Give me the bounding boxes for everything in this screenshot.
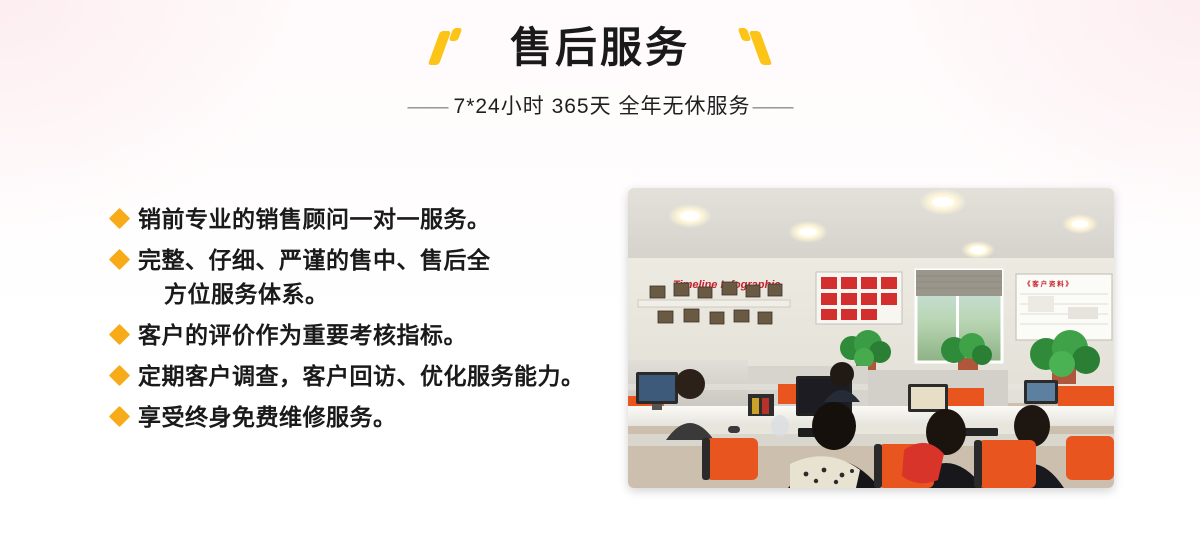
banner-content: 销前专业的销售顾问一对一服务。 完整、仔细、严谨的售中、售后全 方位服务体系。 … xyxy=(0,150,1200,556)
list-item-line: 定期客户调查，客户回访、优化服务能力。 xyxy=(138,363,585,389)
svg-text:《 客 户 资 料 》: 《 客 户 资 料 》 xyxy=(1024,279,1072,288)
list-item: 享受终身免费维修服务。 xyxy=(112,400,612,434)
service-feature-list: 销前专业的销售顾问一对一服务。 完整、仔细、严谨的售中、售后全 方位服务体系。 … xyxy=(112,202,612,441)
yellow-double-slash-icon-right xyxy=(732,27,774,69)
list-item-line: 销前专业的销售顾问一对一服务。 xyxy=(138,206,491,232)
slash-stroke-long xyxy=(428,31,451,65)
list-item-text: 完整、仔细、严谨的售中、售后全 方位服务体系。 xyxy=(138,243,491,311)
banner-header: 售后服务 —— 7*24小时 365天 全年无休服务 —— xyxy=(0,0,1200,150)
list-item-line: 客户的评价作为重要考核指标。 xyxy=(138,322,467,348)
yellow-double-slash-icon-left xyxy=(426,27,468,69)
orange-diamond-icon xyxy=(109,249,130,270)
subtitle-dash-left: —— xyxy=(408,92,448,122)
promo-banner: 售后服务 —— 7*24小时 365天 全年无休服务 —— 销前专业的销售顾问一… xyxy=(0,0,1200,556)
list-item-text: 客户的评价作为重要考核指标。 xyxy=(138,318,467,352)
list-item-text: 享受终身免费维修服务。 xyxy=(138,400,397,434)
subtitle-row: —— 7*24小时 365天 全年无休服务 —— xyxy=(0,92,1200,122)
page-title: 售后服务 xyxy=(510,22,690,74)
title-row: 售后服务 xyxy=(0,22,1200,74)
list-item-text: 销前专业的销售顾问一对一服务。 xyxy=(138,202,491,236)
orange-diamond-icon xyxy=(109,324,130,345)
subtitle-text: 7*24小时 365天 全年无休服务 xyxy=(454,92,751,122)
list-item: 定期客户调查，客户回访、优化服务能力。 xyxy=(112,359,612,393)
office-workspace-photo: Timeline Infographic xyxy=(628,188,1114,488)
list-item: 完整、仔细、严谨的售中、售后全 方位服务体系。 xyxy=(112,243,612,311)
orange-diamond-icon xyxy=(109,208,130,229)
list-item: 客户的评价作为重要考核指标。 xyxy=(112,318,612,352)
list-item-line: 完整、仔细、严谨的售中、售后全 xyxy=(138,247,491,273)
list-item-text: 定期客户调查，客户回访、优化服务能力。 xyxy=(138,359,585,393)
slash-stroke-short xyxy=(449,28,463,41)
list-item-line: 享受终身免费维修服务。 xyxy=(138,404,397,430)
slash-stroke-long xyxy=(749,31,772,65)
slash-stroke-short xyxy=(738,28,752,41)
orange-diamond-icon xyxy=(109,406,130,427)
list-item: 销前专业的销售顾问一对一服务。 xyxy=(112,202,612,236)
subtitle-dash-right: —— xyxy=(752,92,792,122)
office-photo-graphic: Timeline Infographic xyxy=(628,188,1114,488)
orange-diamond-icon xyxy=(109,365,130,386)
list-item-line-cont: 方位服务体系。 xyxy=(138,277,491,311)
